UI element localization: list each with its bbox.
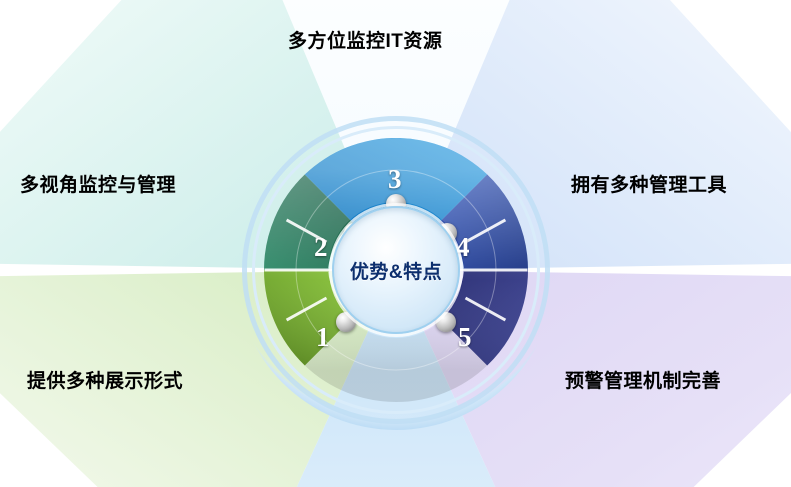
- label-top: 多方位监控IT资源: [288, 26, 442, 53]
- center-label: 优势&特点: [350, 257, 442, 284]
- label-right-bottom: 预警管理机制完善: [565, 366, 721, 393]
- center-disc[interactable]: 优势&特点: [332, 206, 460, 334]
- label-left-top: 多视角监控与管理: [20, 170, 176, 197]
- infographic-canvas: 1 2 3 4 5 优势&特点 多方位监控IT资源 多视角监控与管理 提供多种展…: [0, 0, 791, 487]
- label-left-bottom: 提供多种展示形式: [27, 366, 183, 393]
- radial-diagram-wheel: 1 2 3 4 5 优势&特点: [236, 110, 556, 430]
- label-right-top: 拥有多种管理工具: [571, 170, 727, 197]
